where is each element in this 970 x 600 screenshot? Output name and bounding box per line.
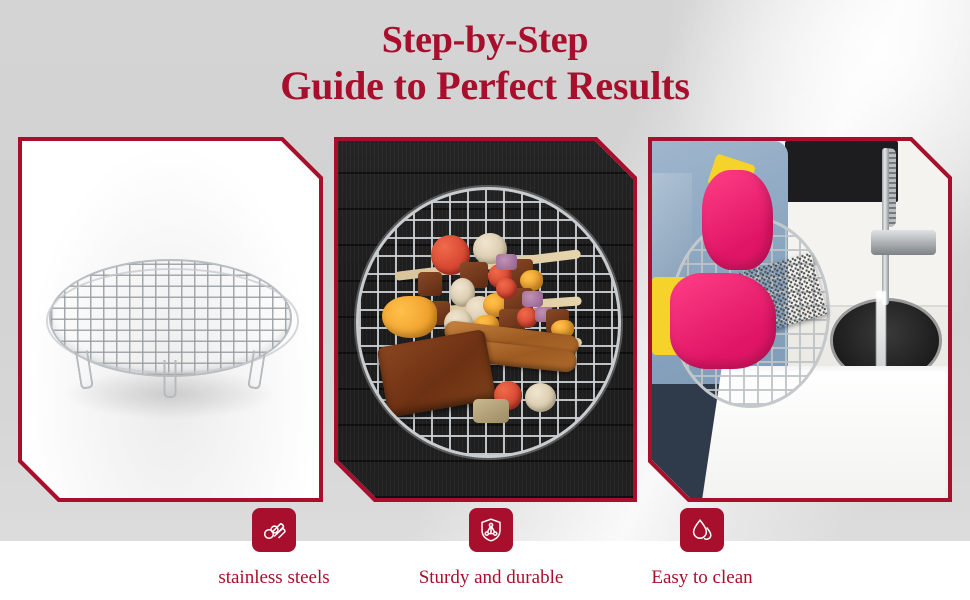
cleaning-panel xyxy=(648,137,952,502)
page-title: Step-by-Step Guide to Perfect Results xyxy=(0,18,970,108)
feature-stainless-steels: stainless steels xyxy=(174,508,374,589)
feature-label: Sturdy and durable xyxy=(391,567,591,589)
feature-label: Easy to clean xyxy=(602,567,802,589)
mushroom-5 xyxy=(525,383,556,412)
product-rack-panel xyxy=(18,137,323,502)
faucet-stem xyxy=(882,148,889,305)
grilling-panel xyxy=(334,137,637,502)
grill-rack xyxy=(356,187,622,457)
kitchen-dark-panel xyxy=(785,141,897,202)
infographic-banner: Step-by-Step Guide to Perfect Results xyxy=(0,0,970,600)
feature-label: stainless steels xyxy=(174,567,374,589)
red-onion-2 xyxy=(522,291,543,307)
feature-easy-to-clean: Easy to clean xyxy=(602,508,802,589)
shield-icon xyxy=(469,508,513,552)
orange-bell-pepper xyxy=(382,296,437,338)
red-onion-1 xyxy=(496,254,517,270)
cleaning-image xyxy=(652,141,948,498)
rack-leg-center xyxy=(164,360,177,398)
steel-tubes-icon xyxy=(252,508,296,552)
product-rack-image xyxy=(22,141,319,498)
beef-cube-3 xyxy=(418,272,441,296)
grilled-zucchini xyxy=(473,399,509,423)
grilling-image xyxy=(338,141,633,498)
title-line-2: Guide to Perfect Results xyxy=(0,63,970,108)
title-line-1: Step-by-Step xyxy=(0,18,970,63)
feature-sturdy-durable: Sturdy and durable xyxy=(391,508,591,589)
water-drops-icon xyxy=(680,508,724,552)
feature-strip: stainless steels Sturdy and durable xyxy=(0,508,970,600)
pink-glove-upper xyxy=(702,170,773,270)
faucet-arm xyxy=(871,230,936,255)
wire-rack xyxy=(49,259,293,377)
cherry-tomato-2 xyxy=(496,278,517,299)
pink-glove-lower xyxy=(670,273,777,369)
